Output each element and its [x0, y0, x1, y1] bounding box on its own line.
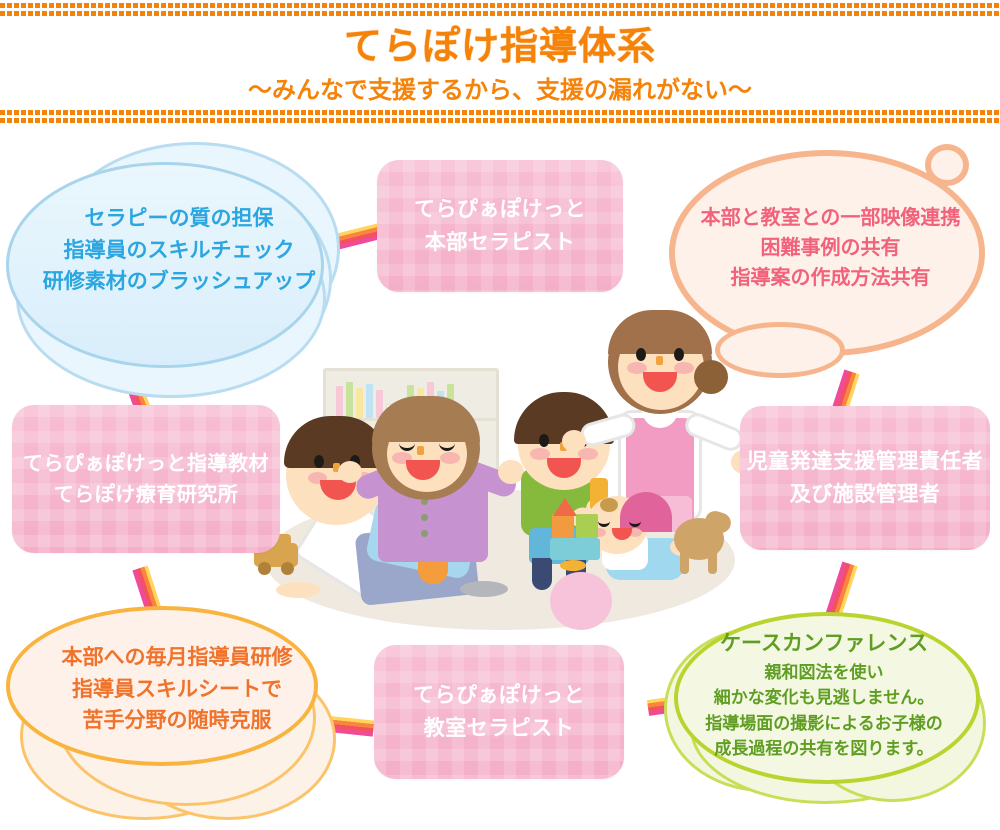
cloud-line-3: 苦手分野の随時克服 — [2, 705, 352, 737]
cloud-line-2: 細かな変化も見逃しません。 — [650, 686, 998, 712]
dotted-rule-top — [0, 3, 1000, 16]
cloud-line-3: 指導場面の撮影によるお子様の — [650, 712, 998, 738]
box-line-2: てらぽけ療育研究所 — [54, 479, 239, 510]
box-line-1: 児童発達支援管理責任者 — [747, 445, 984, 478]
node-top-center-box[interactable]: てらぴぁぽけっと 本部セラピスト — [377, 160, 623, 292]
node-bottom-left-cloud[interactable]: 本部への毎月指導員研修 指導員スキルシートで 苦手分野の随時克服 — [2, 600, 352, 826]
toy-block-orange — [552, 514, 574, 538]
speech-bubble-tail — [715, 322, 845, 378]
cloud-title: ケースカンファレンス — [650, 628, 998, 660]
pink-ball-icon — [550, 572, 612, 630]
toy-car-wheel-left — [258, 562, 271, 575]
dotted-rule-bottom — [0, 110, 1000, 123]
box-line-2: 本部セラピスト — [425, 226, 576, 259]
toy-block-yellow — [560, 560, 586, 571]
node-mid-left-box[interactable]: てらぴぁぽけっと指導教材 てらぽけ療育研究所 — [12, 405, 280, 553]
node-bottom-right-cloud[interactable]: ケースカンファレンス 親和図法を使い 細かな変化も見逃しません。 指導場面の撮影… — [650, 608, 998, 826]
cloud-line-3: 研修素材のブラッシュアップ — [4, 266, 354, 298]
page-subtitle: ～みんなで支援するから、支援の漏れがない～ — [0, 70, 1000, 105]
box-line-2: 及び施設管理者 — [790, 478, 941, 511]
toy-block-green — [576, 514, 598, 538]
node-bottom-center-box[interactable]: てらぴぁぽけっと 教室セラピスト — [374, 645, 624, 779]
page-title: てらぽけ指導体系 — [0, 26, 1000, 67]
box-line-1: てらぴぁぽけっと — [414, 193, 586, 226]
bubble-line-1: 本部と教室との一部映像連携 — [663, 202, 998, 232]
node-top-right-bubble[interactable]: 本部と教室との一部映像連携 困難事例の共有 指導案の作成方法共有 — [663, 140, 998, 380]
cloud-line-2: 指導員のスキルチェック — [4, 235, 354, 267]
toy-horse-leg-2 — [708, 552, 717, 574]
cloud-line-2: 指導員スキルシートで — [2, 674, 352, 706]
toy-block-blue — [550, 538, 600, 560]
speech-bubble-dot — [925, 144, 969, 186]
cloud-line-1: セラピーの質の担保 — [4, 203, 354, 235]
toy-horse-leg-1 — [680, 552, 689, 574]
page-header: てらぽけ指導体系 ～みんなで支援するから、支援の漏れがない～ — [0, 0, 1000, 126]
box-line-1: てらぴぁぽけっと — [413, 679, 585, 712]
toy-car-wheel-right — [281, 562, 294, 575]
node-mid-right-box[interactable]: 児童発達支援管理責任者 及び施設管理者 — [740, 406, 990, 550]
box-line-2: 教室セラピスト — [424, 712, 575, 745]
box-line-1: てらぴぁぽけっと指導教材 — [23, 448, 269, 479]
cloud-line-1: 本部への毎月指導員研修 — [2, 642, 352, 674]
cloud-line-1: 親和図法を使い — [650, 661, 998, 687]
toy-block-triangle — [553, 498, 577, 516]
cloud-line-4: 成長過程の共有を図ります。 — [650, 737, 998, 763]
bubble-line-3: 指導案の作成方法共有 — [663, 262, 998, 292]
node-top-left-cloud[interactable]: セラピーの質の担保 指導員のスキルチェック 研修素材のブラッシュアップ — [4, 140, 354, 400]
bubble-line-2: 困難事例の共有 — [663, 232, 998, 262]
diagram-canvas: てらぽけ指導体系 ～みんなで支援するから、支援の漏れがない～ — [0, 0, 1000, 830]
